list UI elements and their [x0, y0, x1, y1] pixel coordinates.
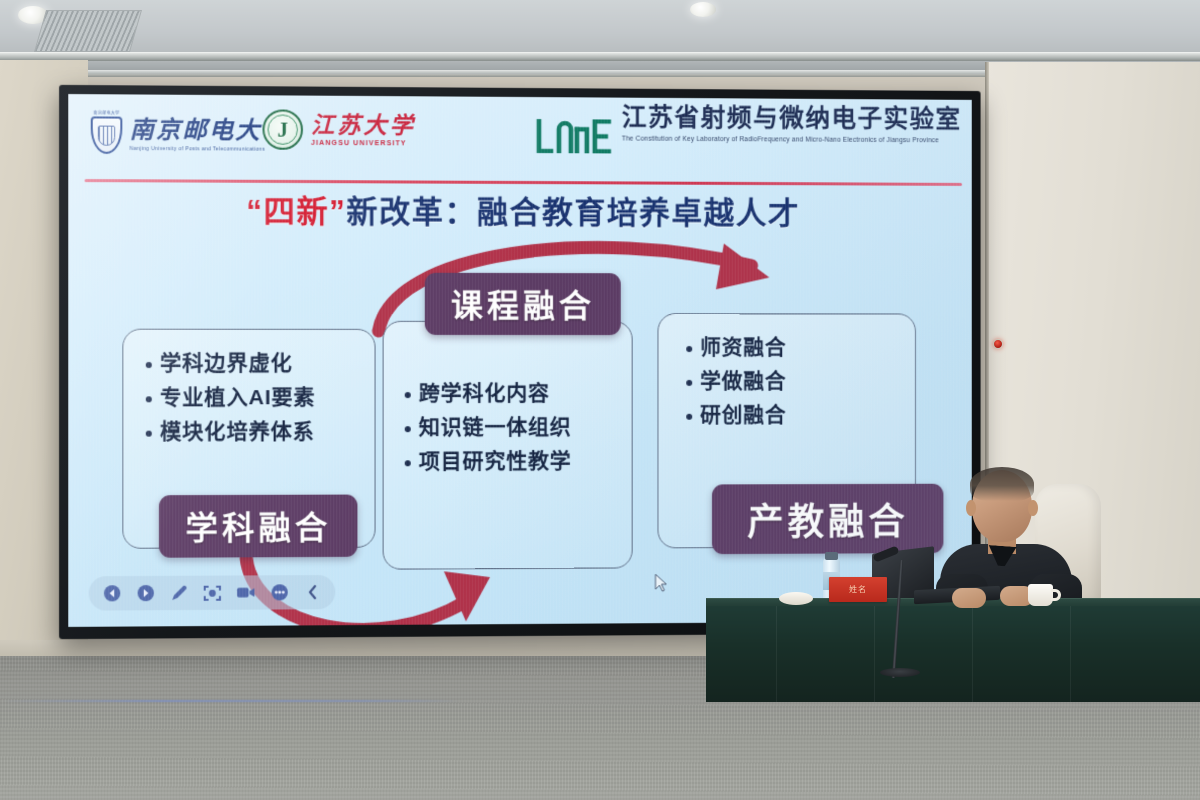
microphone-base [880, 668, 920, 677]
pillar-tag-discipline[interactable]: 学科融合 [159, 495, 357, 558]
slide-title-rest: 新改革：融合教育培养卓越人才 [346, 194, 800, 231]
bullet-text: 学做融合 [700, 365, 786, 399]
lab-name-cn: 江苏省射频与微纳电子实验室 [622, 104, 962, 135]
air-conditioning-vent-icon [34, 10, 142, 52]
logo-ju-en: JIANGSU UNIVERSITY [311, 139, 416, 147]
bullet-text: 项目研究性教学 [419, 445, 572, 479]
slide-title: “四新”新改革：融合教育培养卓越人才 [68, 185, 972, 233]
presenter-ear [966, 500, 976, 516]
led-display-bezel: 南京邮电大学 南京邮电大学 Nanjing University of Post… [59, 85, 980, 639]
ceiling-rail [0, 52, 1200, 61]
slide-screen[interactable]: 南京邮电大学 南京邮电大学 Nanjing University of Post… [68, 94, 972, 627]
list-item: 学科边界虚化 [146, 347, 316, 381]
lab-identity: 江苏省射频与微纳电子实验室 The Constitution of Key La… [535, 103, 962, 155]
bullet-text: 知识链一体组织 [419, 411, 572, 445]
logo-jiangsu-university: J 江苏大学 JIANGSU UNIVERSITY [263, 109, 416, 150]
name-plate-text: 姓名 [849, 584, 867, 595]
presenter-table [706, 606, 1200, 702]
lab-name-en: The Constitution of Key Laboratory of Ra… [622, 135, 962, 144]
presenter-hand [952, 588, 986, 608]
slide-header: 南京邮电大学 南京邮电大学 Nanjing University of Post… [68, 94, 972, 185]
presenter-ear [1028, 500, 1038, 516]
name-plate: 姓名 [829, 577, 887, 602]
bullet-text: 师资融合 [700, 331, 786, 365]
mouse-cursor-icon [655, 573, 669, 593]
presenter-hair [970, 467, 1034, 501]
logo-nanjing-upt: 南京邮电大学 南京邮电大学 Nanjing University of Post… [91, 116, 288, 154]
bullet-text: 专业植入AI要素 [160, 381, 315, 415]
lrmne-logo-icon [535, 119, 613, 153]
next-slide-icon[interactable] [136, 583, 155, 602]
pillar-tag-industry-education[interactable]: 产教融合 [712, 484, 943, 554]
bullet-text: 研创融合 [700, 399, 786, 433]
list-item: 学做融合 [686, 365, 786, 399]
list-item: 师资融合 [686, 331, 786, 365]
pillar-bullets-discipline: 学科边界虚化 专业植入AI要素 模块化培养体系 [132, 335, 324, 450]
list-item: 知识链一体组织 [405, 411, 572, 445]
bullet-text: 模块化培养体系 [160, 415, 315, 450]
bullet-text: 学科边界虚化 [160, 347, 293, 381]
previous-slide-icon[interactable] [102, 584, 121, 603]
presentation-room-scene: 南京邮电大学 南京邮电大学 Nanjing University of Post… [0, 0, 1200, 800]
list-item: 模块化培养体系 [146, 415, 316, 450]
collapse-toolbar-icon[interactable] [303, 583, 322, 602]
seal-letter: J [277, 119, 288, 140]
pen-annotate-icon[interactable] [169, 583, 188, 602]
shield-top-text: 南京邮电大学 [93, 110, 119, 116]
list-item: 跨学科化内容 [405, 377, 572, 411]
pillar-tag-curriculum[interactable]: 课程融合 [425, 273, 621, 335]
bottle-cap [825, 552, 838, 560]
pillar-bullets-industry-education: 师资融合 学做融合 研创融合 [672, 319, 794, 433]
logo-ju-cn: 江苏大学 [311, 113, 416, 137]
list-item: 项目研究性教学 [405, 445, 572, 479]
list-item: 研创融合 [686, 399, 786, 433]
pillar-bullets-curriculum: 跨学科化内容 知识链一体组织 项目研究性教学 [391, 365, 580, 479]
saucer [779, 592, 813, 605]
list-item: 专业植入AI要素 [146, 381, 316, 415]
wall-indicator-light-icon [993, 339, 1003, 349]
seal-icon: J [263, 109, 303, 149]
more-options-icon[interactable] [270, 583, 289, 602]
shield-icon: 南京邮电大学 [91, 116, 123, 154]
spotlight-focus-icon[interactable] [203, 583, 222, 602]
floor-cable-line [0, 700, 460, 702]
record-video-icon[interactable] [236, 583, 255, 602]
ceiling-light [690, 2, 716, 17]
slide-title-highlight: “四新” [246, 194, 346, 230]
bullet-text: 跨学科化内容 [419, 377, 550, 411]
slide-toolbar[interactable] [89, 575, 336, 611]
coffee-mug [1028, 584, 1053, 606]
